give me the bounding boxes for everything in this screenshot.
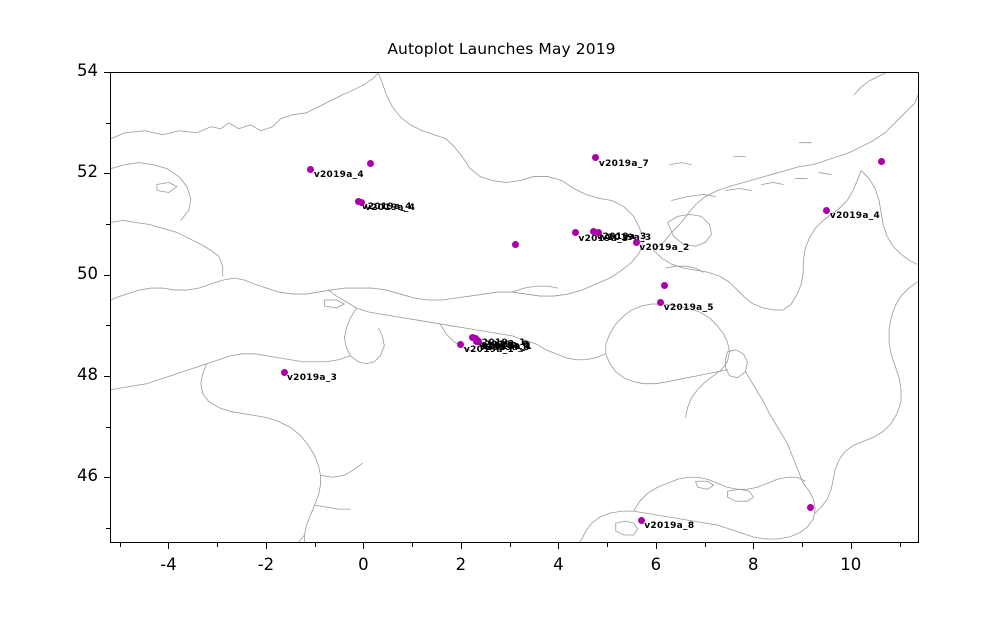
x-axis-tick-label: 0 xyxy=(323,555,403,574)
data-point-label: v2019a_4 xyxy=(314,170,364,180)
data-point-marker[interactable] xyxy=(512,241,519,248)
x-axis-minor-tick xyxy=(315,543,316,547)
x-axis-minor-tick xyxy=(510,543,511,547)
data-point-marker[interactable] xyxy=(661,282,668,289)
y-axis-tick-label: 50 xyxy=(0,264,98,283)
data-point-label: v2019a_8 xyxy=(644,521,694,531)
x-axis-tick xyxy=(753,543,754,549)
x-axis-minor-tick xyxy=(802,543,803,547)
x-axis-tick-label: 10 xyxy=(811,555,891,574)
x-axis-tick xyxy=(266,543,267,549)
y-axis-tick xyxy=(104,173,110,174)
x-axis-tick xyxy=(461,543,462,549)
x-axis-tick xyxy=(363,543,364,549)
x-axis-minor-tick xyxy=(120,543,121,547)
data-point-label: v2019a_4 xyxy=(365,203,415,213)
data-point-label: v2019a_8 xyxy=(480,343,530,353)
x-axis-minor-tick xyxy=(705,543,706,547)
y-axis-minor-tick xyxy=(106,123,110,124)
basemap-coastlines xyxy=(111,73,918,542)
x-axis-minor-tick xyxy=(217,543,218,547)
y-axis-tick-label: 46 xyxy=(0,466,98,485)
x-axis-minor-tick xyxy=(412,543,413,547)
y-axis-minor-tick xyxy=(106,224,110,225)
x-axis-tick xyxy=(168,543,169,549)
page-title: Autoplot Launches May 2019 xyxy=(0,40,1003,58)
x-axis-tick xyxy=(656,543,657,549)
y-axis-tick xyxy=(104,72,110,73)
x-axis-tick xyxy=(851,543,852,549)
x-axis-tick-label: 4 xyxy=(518,555,598,574)
map-plot-area[interactable]: v2019a_4v2019a_4v2019a_4v2019a_3v2019a_1… xyxy=(110,72,919,543)
data-point-label: v2019a_3 xyxy=(601,233,651,243)
data-point-marker[interactable] xyxy=(367,160,374,167)
y-axis-tick-label: 52 xyxy=(0,162,98,181)
y-axis-minor-tick xyxy=(106,427,110,428)
y-axis-minor-tick xyxy=(106,325,110,326)
figure-canvas: Autoplot Launches May 2019 xyxy=(0,0,1003,633)
data-point-label: v2019a_4 xyxy=(830,211,880,221)
x-axis-tick-label: -4 xyxy=(128,555,208,574)
data-point-marker[interactable] xyxy=(878,158,885,165)
y-axis-tick xyxy=(104,477,110,478)
data-point-marker[interactable] xyxy=(807,504,814,511)
x-axis-tick-label: -2 xyxy=(226,555,306,574)
x-axis-tick-label: 6 xyxy=(616,555,696,574)
y-axis-minor-tick xyxy=(106,528,110,529)
data-point-label: v2019a_7 xyxy=(599,159,649,169)
x-axis-tick-label: 2 xyxy=(421,555,501,574)
x-axis-minor-tick xyxy=(607,543,608,547)
x-axis-minor-tick xyxy=(900,543,901,547)
y-axis-tick xyxy=(104,376,110,377)
x-axis-tick xyxy=(558,543,559,549)
y-axis-tick-label: 54 xyxy=(0,61,98,80)
y-axis-tick xyxy=(104,275,110,276)
data-point-label: v2019a_5 xyxy=(664,304,714,314)
y-axis-tick-label: 48 xyxy=(0,365,98,384)
x-axis-tick-label: 8 xyxy=(713,555,793,574)
data-point-label: v2019a_2 xyxy=(639,243,689,253)
data-point-label: v2019a_3 xyxy=(287,374,337,384)
